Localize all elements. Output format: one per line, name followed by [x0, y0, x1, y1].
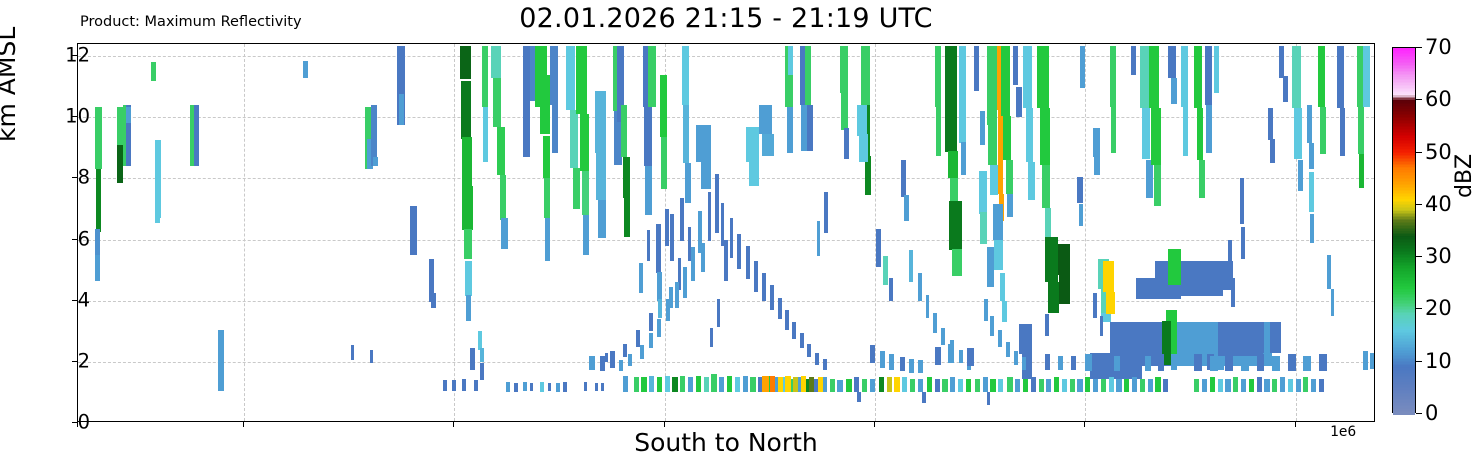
reflectivity-cell	[580, 114, 589, 171]
reflectivity-cell	[870, 345, 875, 363]
reflectivity-cell	[998, 330, 1002, 347]
reflectivity-cell	[683, 105, 689, 163]
reflectivity-cell	[696, 125, 712, 162]
reflectivity-cell	[987, 247, 995, 287]
reflectivity-cell	[1028, 162, 1034, 200]
reflectivity-cell	[1241, 227, 1245, 259]
reflectivity-cell	[1279, 46, 1284, 78]
reflectivity-cell	[815, 353, 819, 365]
y-tick-label: 2	[78, 349, 90, 372]
reflectivity-cell	[1181, 46, 1187, 107]
reflectivity-cell	[701, 162, 711, 190]
reflectivity-cell	[1022, 357, 1026, 369]
reflectivity-cell	[1151, 108, 1160, 165]
product-label: Product: Maximum Reflectivity	[80, 14, 302, 30]
reflectivity-cell	[980, 212, 986, 244]
reflectivity-cell	[1363, 46, 1369, 107]
reflectivity-cell	[1183, 107, 1188, 156]
reflectivity-cell	[910, 379, 915, 393]
reflectivity-cell	[566, 46, 575, 110]
reflectivity-cell	[660, 75, 668, 138]
reflectivity-cell	[666, 299, 670, 320]
reflectivity-cell	[1202, 379, 1207, 393]
reflectivity-cell	[584, 382, 587, 391]
reflectivity-cell	[1131, 46, 1136, 75]
reflectivity-cell	[918, 379, 923, 393]
reflectivity-cell	[550, 46, 558, 106]
reflectivity-cell	[918, 360, 923, 372]
reflectivity-cell	[708, 192, 712, 241]
reflectivity-cell	[717, 299, 720, 327]
reflectivity-cell	[1031, 377, 1036, 392]
reflectivity-cell	[1194, 46, 1202, 109]
reflectivity-cell	[1280, 377, 1285, 392]
reflectivity-cell	[1106, 292, 1115, 315]
reflectivity-cell	[950, 178, 958, 202]
reflectivity-cell	[817, 221, 821, 256]
y-tick-label: 0	[78, 411, 90, 434]
reflectivity-cell	[990, 379, 995, 393]
reflectivity-cell	[683, 267, 687, 298]
reflectivity-cell	[623, 344, 627, 358]
reflectivity-cell	[711, 374, 716, 392]
reflectivity-cell	[480, 363, 484, 380]
reflectivity-cell	[523, 382, 527, 391]
reflectivity-cell	[859, 134, 868, 162]
reflectivity-cell	[805, 46, 811, 106]
reflectivity-cell	[623, 157, 629, 198]
reflectivity-cell	[1331, 289, 1335, 317]
reflectivity-cell	[1155, 377, 1160, 392]
reflectivity-cell	[151, 62, 156, 80]
reflectivity-cell	[1100, 316, 1104, 336]
reflectivity-cell	[478, 331, 482, 349]
reflectivity-cell	[595, 383, 598, 391]
reflectivity-cell	[861, 46, 870, 107]
reflectivity-cell	[719, 377, 724, 392]
y-axis-label: km AMSL	[0, 27, 21, 142]
reflectivity-cell	[500, 175, 506, 219]
reflectivity-cell	[1093, 293, 1097, 317]
reflectivity-cell	[1094, 154, 1099, 175]
reflectivity-cell	[927, 377, 932, 392]
reflectivity-cell	[750, 377, 755, 392]
x-tick-mark	[243, 422, 244, 427]
reflectivity-cell	[904, 195, 909, 221]
reflectivity-cell	[793, 377, 798, 392]
reflectivity-cell	[491, 46, 501, 78]
reflectivity-cell	[862, 379, 867, 393]
reflectivity-cell	[1311, 379, 1316, 393]
reflectivity-cell	[1210, 356, 1218, 371]
colorbar-tick-label: 0	[1425, 401, 1438, 425]
reflectivity-cell	[636, 330, 640, 347]
colorbar-tick-label: 60	[1425, 87, 1452, 111]
reflectivity-cell	[1240, 178, 1244, 224]
reflectivity-cell	[685, 163, 690, 203]
y-tick-mark	[72, 300, 77, 301]
reflectivity-cell	[506, 382, 510, 393]
y-tick-mark	[72, 361, 77, 362]
reflectivity-cell	[610, 351, 615, 368]
reflectivity-cell	[1241, 379, 1246, 393]
reflectivity-cell	[628, 354, 632, 366]
reflectivity-cell	[1016, 87, 1021, 118]
reflectivity-cell	[1026, 108, 1034, 161]
reflectivity-cell	[987, 46, 997, 125]
reflectivity-cell	[1309, 172, 1314, 212]
reflectivity-cell	[1249, 379, 1254, 393]
reflectivity-cell	[96, 169, 101, 232]
reflectivity-cell	[998, 379, 1003, 393]
reflectivity-cell	[1231, 278, 1235, 307]
x-tick-mark	[1084, 422, 1085, 427]
reflectivity-cell	[704, 377, 709, 392]
reflectivity-cell	[1140, 379, 1145, 393]
reflectivity-cell	[645, 166, 651, 215]
colorbar-segment	[1393, 412, 1415, 414]
y-tick-label: 4	[78, 288, 90, 311]
reflectivity-cell	[935, 347, 941, 365]
reflectivity-cell	[657, 319, 661, 337]
reflectivity-cell	[570, 110, 578, 168]
reflectivity-cell	[1319, 379, 1324, 393]
reflectivity-cell	[649, 376, 654, 393]
reflectivity-cell	[770, 376, 775, 393]
reflectivity-cell	[993, 204, 1003, 239]
reflectivity-cell	[1292, 46, 1301, 109]
reflectivity-cell	[988, 125, 997, 165]
reflectivity-cell	[576, 46, 586, 115]
reflectivity-cell	[945, 46, 957, 153]
reflectivity-cell	[1002, 301, 1007, 322]
reflectivity-cell	[1296, 379, 1301, 393]
reflectivity-cell	[807, 105, 812, 151]
reflectivity-cell	[1370, 353, 1375, 370]
reflectivity-cell	[545, 218, 550, 261]
reflectivity-cell	[680, 198, 684, 241]
colorbar-tick-mark	[1416, 47, 1422, 48]
reflectivity-cell	[619, 360, 623, 371]
reflectivity-cell	[830, 379, 835, 393]
reflectivity-cell	[1003, 116, 1011, 160]
reflectivity-cell	[1194, 354, 1202, 371]
reflectivity-cell	[935, 379, 940, 393]
reflectivity-cell	[983, 377, 988, 392]
reflectivity-cell	[1110, 46, 1116, 107]
reflectivity-cell	[126, 107, 131, 124]
reflectivity-cell	[949, 201, 962, 250]
reflectivity-cell	[530, 383, 533, 391]
reflectivity-cell	[1268, 108, 1273, 140]
reflectivity-cell	[1340, 108, 1345, 155]
reflectivity-cell	[762, 134, 774, 155]
x-axis-offset-label: 1e6	[1330, 424, 1356, 440]
reflectivity-cell	[1171, 354, 1177, 369]
x-tick-mark	[874, 422, 875, 427]
reflectivity-cell	[1257, 377, 1262, 392]
reflectivity-cell	[787, 107, 793, 153]
colorbar-tick-mark	[1416, 361, 1422, 362]
colorbar-tick-mark	[1416, 99, 1422, 100]
reflectivity-cell	[1093, 379, 1098, 393]
reflectivity-cell	[961, 142, 966, 176]
reflectivity-cell	[600, 356, 605, 371]
reflectivity-cell	[715, 174, 719, 234]
reflectivity-cell	[1146, 160, 1152, 198]
reflectivity-cell	[1320, 107, 1326, 154]
reflectivity-cell	[548, 383, 551, 391]
reflectivity-cell	[540, 382, 544, 393]
colorbar-tick-mark	[1416, 204, 1422, 205]
reflectivity-cell	[987, 392, 991, 404]
reflectivity-cell	[639, 263, 643, 294]
reflectivity-cell	[657, 272, 662, 301]
reflectivity-cell	[675, 282, 679, 308]
reflectivity-cell	[1241, 356, 1249, 371]
reflectivity-cell	[1288, 379, 1293, 393]
reflectivity-cell	[1080, 46, 1085, 89]
reflectivity-cell	[778, 298, 782, 319]
reflectivity-cell	[1129, 354, 1135, 371]
reflectivity-cell	[922, 392, 926, 403]
reflectivity-cell	[1298, 160, 1303, 191]
reflectivity-cell	[399, 94, 404, 125]
reflectivity-cell	[1040, 108, 1050, 165]
reflectivity-cell	[974, 46, 979, 92]
reflectivity-cell	[800, 333, 804, 348]
reflectivity-cell	[688, 377, 693, 392]
reflectivity-cell	[1059, 275, 1069, 304]
reflectivity-cell	[624, 198, 629, 236]
reflectivity-cell	[544, 178, 550, 218]
reflectivity-cell	[410, 206, 416, 255]
reflectivity-cell	[721, 203, 725, 246]
reflectivity-cell	[1294, 108, 1302, 158]
reflectivity-cell	[950, 377, 955, 392]
reflectivity-cell	[1093, 128, 1099, 157]
reflectivity-cell	[801, 376, 806, 393]
reflectivity-cell	[889, 278, 893, 301]
reflectivity-cell	[909, 359, 914, 373]
reflectivity-cell	[1023, 379, 1028, 393]
reflectivity-cell	[792, 322, 796, 339]
reflectivity-cell	[1042, 165, 1050, 208]
reflectivity-cell	[1233, 377, 1238, 392]
reflectivity-cell	[461, 81, 471, 139]
reflectivity-cell	[1116, 379, 1121, 393]
reflectivity-cell	[894, 377, 899, 392]
reflectivity-cell	[1079, 204, 1083, 225]
colorbar-title: dBZ	[1452, 154, 1477, 198]
reflectivity-cell	[1309, 143, 1314, 169]
reflectivity-cell	[762, 273, 766, 301]
reflectivity-cell	[966, 379, 971, 393]
reflectivity-cell	[460, 46, 472, 80]
y-tick-mark	[72, 239, 77, 240]
reflectivity-cell	[735, 377, 740, 392]
reflectivity-cell	[990, 316, 994, 336]
reflectivity-cell	[658, 299, 662, 317]
reflectivity-cell	[1140, 46, 1149, 109]
reflectivity-cell	[1048, 282, 1060, 313]
reflectivity-cell	[1045, 237, 1058, 283]
reflectivity-cell	[818, 377, 823, 392]
reflectivity-cell	[727, 376, 732, 393]
reflectivity-cell	[788, 46, 793, 75]
reflectivity-cell	[902, 377, 907, 392]
reflectivity-cell	[1145, 356, 1151, 371]
reflectivity-cell	[1006, 160, 1012, 194]
reflectivity-cell	[749, 160, 759, 186]
reflectivity-cell	[589, 356, 594, 370]
reflectivity-cell	[1111, 107, 1116, 153]
y-tick-mark	[72, 177, 77, 178]
reflectivity-cell	[876, 229, 881, 267]
reflectivity-cell	[480, 348, 484, 362]
reflectivity-cell	[540, 75, 550, 135]
reflectivity-cell	[1163, 379, 1168, 393]
reflectivity-cell	[1045, 354, 1050, 369]
reflectivity-cell	[1101, 379, 1106, 393]
reflectivity-cell	[1257, 354, 1265, 371]
reflectivity-cell	[1168, 46, 1176, 78]
reflectivity-cell	[474, 380, 478, 391]
reflectivity-cell	[483, 107, 488, 162]
colorbar-tick-label: 10	[1425, 349, 1452, 373]
reflectivity-cell	[370, 350, 373, 364]
reflectivity-cell	[926, 295, 930, 318]
reflectivity-cell	[1197, 108, 1203, 160]
reflectivity-cell	[462, 379, 466, 391]
reflectivity-cell	[1270, 139, 1275, 163]
reflectivity-cell	[1007, 377, 1012, 392]
reflectivity-cell	[1015, 379, 1020, 393]
reflectivity-block	[1246, 322, 1264, 353]
reflectivity-cell	[746, 127, 759, 162]
colorbar-tick-label: 20	[1425, 296, 1452, 320]
reflectivity-cell	[1225, 379, 1230, 393]
reflectivity-cell	[523, 46, 529, 158]
reflectivity-cell	[1288, 354, 1296, 371]
reflectivity-cell	[649, 313, 653, 331]
reflectivity-cell	[1101, 354, 1107, 369]
reflectivity-cell	[1303, 356, 1311, 371]
reflectivity-cell	[737, 234, 741, 269]
reflectivity-cell	[462, 186, 472, 230]
reflectivity-cell	[1194, 379, 1199, 393]
reflectivity-cell	[785, 310, 789, 330]
reflectivity-block	[1168, 249, 1181, 286]
reflectivity-cell	[1337, 46, 1343, 109]
reflectivity-cell	[482, 46, 488, 107]
reflectivity-cell	[596, 153, 606, 200]
reflectivity-cell	[1210, 377, 1215, 392]
reflectivity-cell	[1272, 356, 1280, 371]
colorbar	[1392, 47, 1416, 413]
reflectivity-cell	[696, 376, 701, 393]
reflectivity-cell	[443, 380, 447, 391]
colorbar-tick-label: 50	[1425, 140, 1452, 164]
reflectivity-cell	[1103, 261, 1113, 292]
x-tick-mark	[1295, 422, 1296, 427]
reflectivity-cell	[823, 359, 827, 370]
reflectivity-cell	[975, 379, 980, 393]
reflectivity-cell	[351, 345, 354, 360]
reflectivity-cell	[883, 256, 888, 285]
reflectivity-cell	[682, 46, 690, 106]
reflectivity-cell	[1264, 379, 1269, 393]
reflectivity-cell	[647, 230, 651, 261]
reflectivity-cell	[670, 214, 674, 261]
reflectivity-cell	[990, 165, 998, 196]
reflectivity-cell	[1046, 379, 1051, 393]
reflectivity-cell	[1199, 160, 1204, 198]
reflectivity-cell	[1206, 105, 1212, 152]
reflectivity-cell	[621, 105, 627, 157]
reflectivity-cell	[854, 377, 859, 392]
reflectivity-cell	[918, 273, 922, 301]
x-axis-label: South to North	[77, 428, 1375, 457]
colorbar-tick-mark	[1416, 152, 1422, 153]
y-tick-mark	[72, 116, 77, 117]
reflectivity-cell	[543, 136, 551, 179]
reflectivity-cell	[665, 376, 670, 393]
reflectivity-cell	[948, 344, 954, 364]
reflectivity-cell	[1054, 377, 1059, 392]
reflectivity-cell	[887, 377, 892, 392]
reflectivity-cell	[785, 376, 790, 393]
reflectivity-cell	[218, 330, 224, 391]
reflectivity-cell	[994, 240, 1003, 271]
colorbar-tick-mark	[1416, 413, 1422, 414]
x-tick-mark	[664, 422, 665, 427]
colorbar-tick-label: 30	[1425, 244, 1452, 268]
reflectivity-cell	[759, 105, 772, 134]
reflectivity-cell	[1023, 46, 1032, 109]
reflectivity-cell	[462, 137, 472, 186]
reflectivity-cell	[857, 392, 861, 401]
reflectivity-cell	[1228, 240, 1232, 277]
reflectivity-cell	[948, 151, 958, 179]
reflectivity-cell	[665, 209, 669, 246]
reflectivity-cell	[1307, 105, 1312, 143]
reflectivity-cell	[1142, 108, 1150, 158]
reflectivity-cell	[958, 379, 963, 393]
reflectivity-cell	[1148, 379, 1153, 393]
reflectivity-cell	[857, 105, 867, 136]
reflectivity-cell	[936, 107, 941, 156]
reflectivity-cell	[1205, 46, 1213, 106]
reflectivity-cell	[601, 383, 604, 391]
reflectivity-cell	[514, 383, 518, 392]
reflectivity-cell	[1319, 354, 1327, 371]
reflectivity-cell	[935, 46, 941, 107]
reflectivity-cell	[470, 348, 475, 369]
reflectivity-cell	[1149, 46, 1159, 109]
reflectivity-cell	[1310, 214, 1314, 243]
reflectivity-cell	[1358, 107, 1364, 154]
reflectivity-cell	[656, 224, 661, 273]
reflectivity-cell	[1062, 379, 1067, 393]
reflectivity-cell	[941, 328, 945, 345]
reflectivity-cell	[746, 246, 750, 280]
reflectivity-cell	[880, 351, 885, 368]
reflectivity-cell	[942, 379, 947, 393]
reflectivity-cell	[556, 383, 560, 392]
reflectivity-cell	[870, 379, 875, 393]
reflectivity-cell	[649, 333, 653, 348]
